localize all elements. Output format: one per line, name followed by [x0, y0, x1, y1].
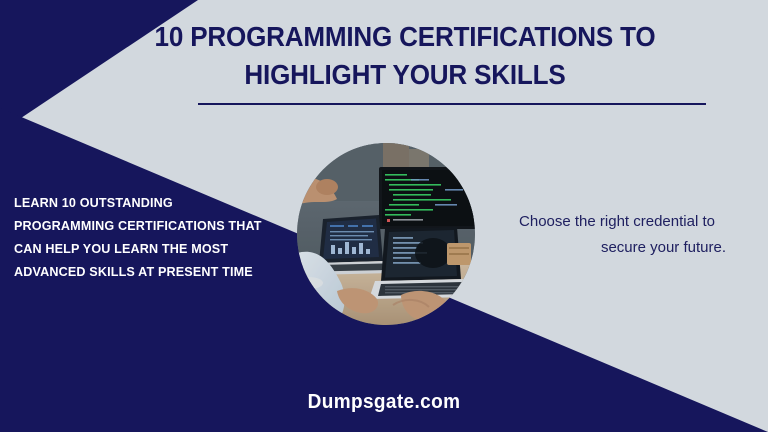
- title-line-1: 10 PROGRAMMING CERTIFICATIONS TO: [121, 18, 688, 56]
- brand-footer: Dumpsgate.com: [19, 391, 749, 414]
- poster-title: 10 PROGRAMMING CERTIFICATIONS TO HIGHLIG…: [100, 18, 710, 93]
- title-line-2: HIGHLIGHT YOUR SKILLS: [121, 56, 688, 94]
- tagline-line-1: Choose the right credential to: [492, 209, 742, 235]
- right-tagline: Choose the right credential to secure yo…: [492, 209, 742, 261]
- developer-workstation-photo: [297, 143, 475, 325]
- left-description-text: LEARN 10 OUTSTANDING PROGRAMMING CERTIFI…: [14, 192, 262, 284]
- photo-illustration: [297, 143, 475, 325]
- title-divider-rule: [198, 103, 706, 105]
- tagline-line-2: secure your future.: [492, 235, 742, 261]
- poster-canvas: 10 PROGRAMMING CERTIFICATIONS TO HIGHLIG…: [0, 0, 768, 432]
